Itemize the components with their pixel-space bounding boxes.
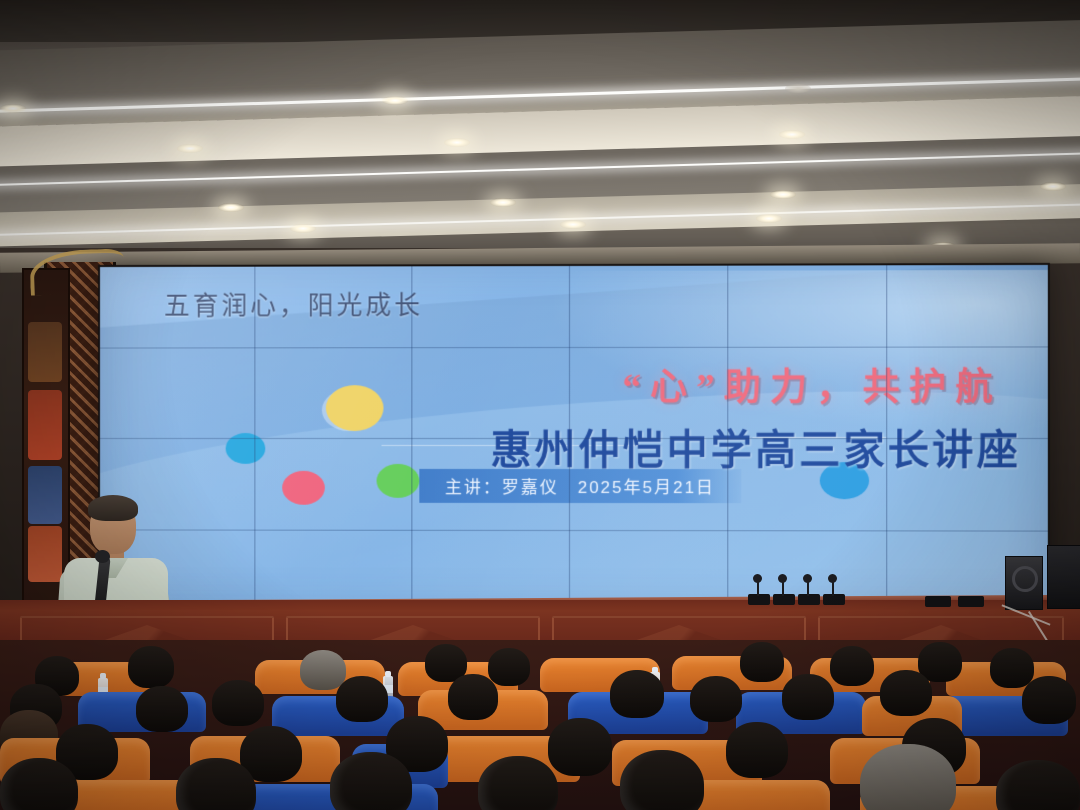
ceiling-downlight — [560, 220, 586, 229]
loudspeaker — [1047, 545, 1080, 609]
conference-microphone — [748, 594, 770, 605]
ceiling-downlight — [218, 203, 244, 212]
conference-microphone — [828, 574, 837, 583]
ceiling-downlight — [785, 84, 811, 93]
audience-head — [1022, 676, 1076, 724]
ceiling-downlight — [490, 198, 516, 207]
ceiling-downlight — [444, 138, 470, 147]
audience-head — [548, 718, 612, 776]
audience-head — [128, 646, 174, 688]
ceiling-downlight — [0, 104, 26, 113]
audience-head — [212, 680, 264, 726]
ceiling-downlight — [177, 144, 203, 153]
scroll-motif — [28, 390, 62, 460]
audience-head — [830, 646, 874, 686]
audience-head — [448, 674, 498, 720]
conference-microphone — [803, 574, 812, 583]
ceiling-downlight — [1040, 182, 1066, 191]
audience-head — [860, 744, 956, 810]
led-video-wall[interactable]: 五育润心，阳光成长 “心”助力，共护航 惠州仲恺中学高三家长讲座 主讲：罗嘉仪 … — [98, 263, 1050, 610]
audience-head — [782, 674, 834, 720]
audience-head — [330, 752, 412, 810]
audience-head — [136, 686, 188, 732]
table-device — [958, 596, 984, 607]
audience-head — [478, 756, 558, 810]
audience-head — [690, 676, 742, 722]
audience-head — [996, 760, 1080, 810]
audience-head — [880, 670, 932, 716]
audience-head — [610, 670, 664, 718]
microphone-head — [95, 550, 110, 563]
conference-microphone — [823, 594, 845, 605]
conference-microphone — [773, 594, 795, 605]
audience-head — [740, 642, 784, 682]
audience-head — [0, 758, 78, 810]
ceiling — [0, 0, 1080, 268]
audience-head — [300, 650, 346, 690]
computer-fan-vent — [1012, 566, 1038, 592]
table-device — [925, 596, 951, 607]
ceiling-downlight — [290, 224, 316, 233]
audience-head — [990, 648, 1034, 688]
presenter-hair — [88, 495, 138, 521]
ceiling-downlight — [770, 190, 796, 199]
ceiling-downlight — [382, 96, 408, 105]
conference-microphone — [753, 574, 762, 583]
audience-head — [726, 722, 788, 778]
audience-head — [336, 676, 388, 722]
ceiling-downlight — [756, 214, 782, 223]
screen-bezel — [98, 263, 1050, 610]
audience-head — [620, 750, 704, 810]
ceiling-downlight — [779, 130, 805, 139]
photo-scene: 五育润心，阳光成长 “心”助力，共护航 惠州仲恺中学高三家长讲座 主讲：罗嘉仪 … — [0, 0, 1080, 810]
scroll-motif — [28, 322, 62, 382]
audience-area — [0, 640, 1080, 810]
conference-microphone — [778, 574, 787, 583]
conference-microphone — [798, 594, 820, 605]
audience-head — [488, 648, 530, 686]
